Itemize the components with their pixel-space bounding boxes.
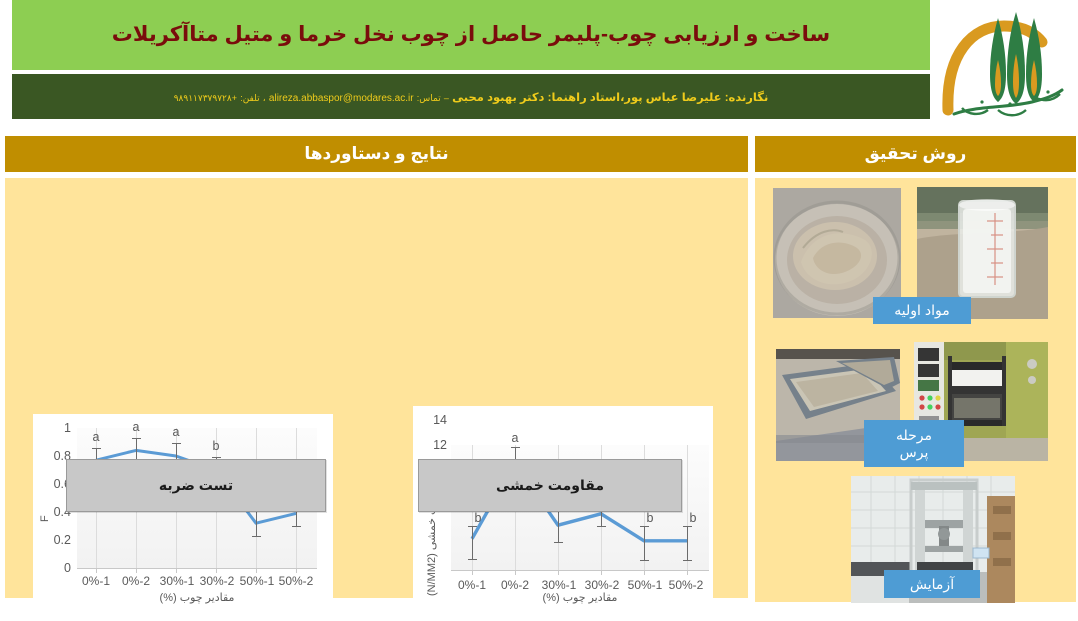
chart2-xtick: 30%-1 [542,578,577,592]
chart1-sig-letter: b [213,439,220,453]
caption-raw-materials-label: مواد اولیه [894,302,949,318]
section-title-method: روش تحقیق [865,144,967,164]
chart2-ytick: 14 [433,413,447,427]
chart1-xtick: 30%-2 [200,574,235,588]
chart2-x-tickmark [515,570,516,575]
chart2-ytick: 12 [433,438,447,452]
chart1-ytick: 1 [64,421,71,435]
chart2-x-tickmark [644,570,645,575]
chart2-sig-letter: b [475,511,482,525]
chart2-x-axis-title: مقادیر چوب (%) [451,592,709,604]
chart1-x-tickmark [256,568,257,573]
chart1-x-tickmark [216,568,217,573]
phone-number: +۹۸۹۱۱۷۳۷۹۷۲۸ [174,93,237,103]
chart1-x-tickmark [136,568,137,573]
chart2-x-axis [451,570,709,571]
email-link[interactable]: alireza.abbaspor@modares.ac.ir [269,93,414,104]
results-panel: 1 0.8 0.6 0.4 0.2 0 F [5,178,748,598]
chart2-x-tickmark [472,570,473,575]
chart1-ytick: 0.2 [54,533,71,547]
chart2-x-tickmark [601,570,602,575]
caption-press-stage-line2: پرس [900,444,929,460]
phone-label: تلفن: [240,93,259,103]
poster-title-band: ساخت و ارزیابی چوب-پلیمر حاصل از چوب نخل… [12,0,930,70]
chart2-xtick: 0%-2 [501,578,529,592]
contact-label: تماس: [417,93,441,103]
impact-test-button-label: تست ضربه [159,477,233,494]
chart1-sig-letter: a [93,430,100,444]
poster-header: ساخت و ارزیابی چوب-پلیمر حاصل از چوب نخل… [0,0,1078,122]
chart2-xtick: 30%-2 [585,578,620,592]
page-title: ساخت و ارزیابی چوب-پلیمر حاصل از چوب نخل… [98,23,844,47]
chart1-xtick: 0%-2 [122,574,150,588]
chart1-xtick: 50%-2 [279,574,314,588]
chart2-xtick: 50%-1 [628,578,663,592]
poster-author-band: نگارنده: علیرضا عباس پور،استاد راهنما: د… [12,74,930,119]
chart2-xtick: 0%-1 [458,578,486,592]
caption-testing: آزمایش [884,570,980,598]
caption-raw-materials: مواد اولیه [873,297,971,324]
dash-separator: – [444,93,449,103]
caption-press-stage: مرحله پرس [864,420,964,467]
section-header-method: روش تحقیق [755,136,1076,172]
chart2-x-tickmark [687,570,688,575]
chart2-sig-letter: a [512,431,519,445]
chart1-x-axis [77,568,317,569]
chart1-sig-letter: a [133,420,140,434]
chart2-sig-letter: b [690,511,697,525]
chart1-x-tickmark [296,568,297,573]
author-contact-line: نگارنده: علیرضا عباس پور،استاد راهنما: د… [164,90,779,104]
chart2-sig-letter: b [647,511,654,525]
chart1-ytick: 0 [64,561,71,575]
chart1-sig-letter: a [173,425,180,439]
comma-separator: ، [263,93,266,103]
tarbiat-modares-university-logo [936,2,1074,122]
chart1-xtick: 0%-1 [82,574,110,588]
flexural-strength-chart: 14 12 10 مقاومت خمشی (N/MM2) [413,406,713,621]
author-names: نگارنده: علیرضا عباس پور،استاد راهنما: د… [452,92,768,104]
chart2-xtick: 50%-2 [669,578,704,592]
caption-testing-label: آزمایش [910,576,954,592]
chart2-x-tickmark [558,570,559,575]
impact-test-button[interactable]: تست ضربه [66,459,326,512]
flexural-strength-button-label: مقاومت خمشی [496,477,604,494]
chart1-xtick: 50%-1 [240,574,275,588]
chart1-xtick: 30%-1 [160,574,195,588]
chart1-y-axis-title: F [39,515,51,522]
flexural-strength-button[interactable]: مقاومت خمشی [418,459,682,512]
caption-press-stage-line1: مرحله [896,427,932,443]
chart1-x-tickmark [96,568,97,573]
section-header-results: نتایج و دستاوردها [5,136,748,172]
chart1-x-axis-title: مقادیر چوب (%) [77,592,317,604]
chart1-x-tickmark [176,568,177,573]
section-title-results: نتایج و دستاوردها [304,144,448,164]
